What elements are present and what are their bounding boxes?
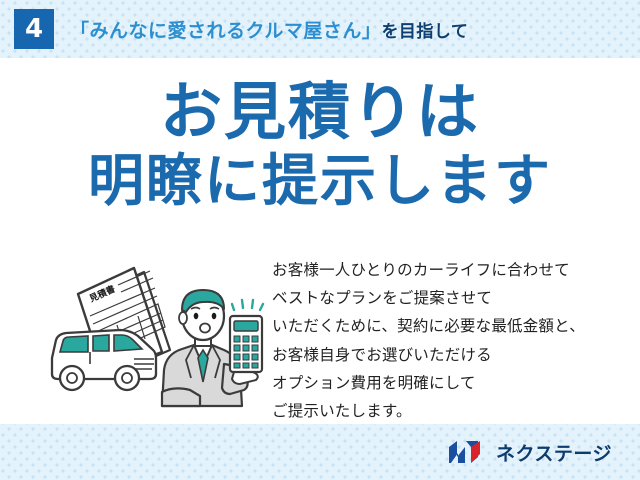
headline-line-2: 明瞭に提示します — [0, 153, 640, 210]
header-title: 「みんなに愛されるクルマ屋さん」を目指して — [70, 16, 468, 43]
copy-line: お客様一人ひとりのカーライフに合わせて — [272, 256, 632, 284]
van-icon — [52, 330, 156, 390]
calculator-icon — [230, 316, 262, 372]
section-number: 4 — [25, 16, 43, 42]
copy-line: ご提示いたします。 — [272, 397, 632, 425]
copy-line: ベストなプランをご提案させて — [272, 284, 632, 312]
page-background: 4 「みんなに愛されるクルマ屋さん」を目指して お見積りは 明瞭に提示します お… — [0, 0, 640, 480]
brand-name: ネクステージ — [496, 439, 612, 466]
section-number-badge: 4 — [14, 9, 54, 49]
footer-bar: ネクステージ — [0, 424, 640, 480]
header-title-quoted: 「みんなに愛されるクルマ屋さん」 — [70, 21, 381, 42]
content-card: お見積りは 明瞭に提示します お客様一人ひとりのカーライフに合わせて ベストなプ… — [0, 58, 640, 424]
header-bar: 4 「みんなに愛されるクルマ屋さん」を目指して — [0, 0, 640, 58]
body-copy: お客様一人ひとりのカーライフに合わせて ベストなプランをご提案させて いただくた… — [272, 256, 632, 425]
brand-logo: ネクステージ — [447, 439, 612, 466]
page-title: お見積りは 明瞭に提示します — [0, 80, 640, 210]
headline-line-1: お見積りは — [0, 80, 640, 143]
copy-line: いただくために、契約に必要な最低金額と、 — [272, 312, 632, 340]
copy-line: お客様自身でお選びいただける — [272, 341, 632, 369]
sparkle-icon — [232, 300, 263, 310]
copy-line: オプション費用を明確にして — [272, 369, 632, 397]
illustration: 見積書 — [34, 254, 274, 414]
header-title-tail: を目指して — [381, 22, 468, 41]
nextage-n-mark-icon — [447, 439, 487, 465]
